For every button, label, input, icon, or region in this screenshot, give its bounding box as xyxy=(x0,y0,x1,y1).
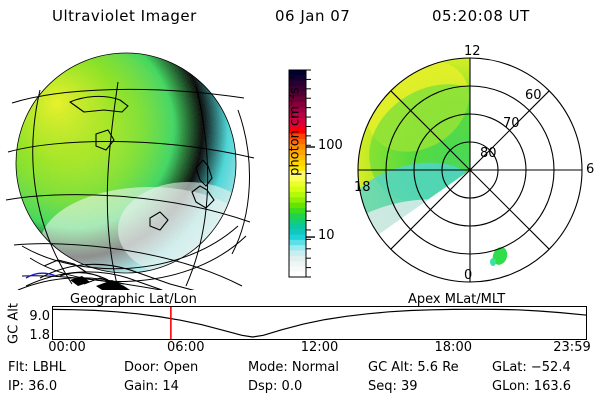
colorbar-segment xyxy=(289,219,306,225)
colorbar-segment xyxy=(289,245,306,251)
altitude-strip-plot: Geographic Lat/Lon Apex MLat/MLT GC Alt … xyxy=(0,292,600,348)
observation-date: 06 Jan 07 xyxy=(275,7,350,25)
colorbar-segment xyxy=(289,240,306,246)
strip-title-geographic: Geographic Lat/Lon xyxy=(70,292,197,307)
instrument-title: Ultraviolet Imager xyxy=(52,7,197,25)
header-bar: Ultraviolet Imager 06 Jan 07 05:20:08 UT xyxy=(0,4,600,32)
strip-title-apex: Apex MLat/MLT xyxy=(408,292,505,307)
colorbar-segment xyxy=(289,256,306,262)
status-row-2: IP: 36.0Gain: 14Dsp: 0.0Seq: 39GLon: 163… xyxy=(0,379,600,398)
mlt-label-undefined: 12 xyxy=(464,44,481,59)
time-tick-label: 12:00 xyxy=(299,340,341,355)
mlt-label-undefined: 0 xyxy=(464,268,472,283)
status-readout: Flt: LBHLDoor: OpenMode: NormalGC Alt: 5… xyxy=(0,360,600,400)
colorbar-axis-label: photon cm⁻²s⁻¹ xyxy=(288,46,303,206)
time-tick-label: 18:00 xyxy=(432,340,474,355)
status-field: Door: Open xyxy=(124,360,198,375)
status-field: Flt: LBHL xyxy=(8,360,66,375)
altitude-trace xyxy=(52,309,587,337)
colorbar-segment xyxy=(289,208,306,214)
polar-plot xyxy=(340,40,600,290)
colorbar-segment xyxy=(289,250,306,256)
status-field: Dsp: 0.0 xyxy=(248,379,302,394)
status-field: Gain: 14 xyxy=(124,379,179,394)
strip-y-axis-label: GC Alt xyxy=(7,296,22,352)
geographic-globe-panel xyxy=(0,40,272,290)
status-row-1: Flt: LBHLDoor: OpenMode: NormalGC Alt: 5… xyxy=(0,360,600,379)
colorbar-segment xyxy=(289,229,306,235)
y-tick-high: 9.0 xyxy=(29,309,50,324)
status-field: GC Alt: 5.6 Re xyxy=(368,360,459,375)
colorbar-tick-label: 10 xyxy=(318,228,335,243)
time-tick-label: 23:59 xyxy=(551,340,593,355)
altitude-curve-plot[interactable] xyxy=(52,306,587,340)
mlt-label-undefined: 6 xyxy=(586,162,594,177)
status-field: GLon: 163.6 xyxy=(492,379,571,394)
mlat-ring-label-70: 70 xyxy=(503,116,520,131)
time-tick-label: 06:00 xyxy=(165,340,207,355)
time-tick-label: 00:00 xyxy=(46,340,88,355)
colorbar-segment xyxy=(289,213,306,219)
mlt-label-undefined: 18 xyxy=(354,180,371,195)
apex-polar-panel: 126018607080 xyxy=(340,40,600,290)
colorbar-segment xyxy=(289,224,306,230)
globe-image xyxy=(0,40,272,290)
colorbar-segment xyxy=(289,261,306,267)
status-field: IP: 36.0 xyxy=(8,379,57,394)
strip-frame xyxy=(53,307,587,340)
status-field: Seq: 39 xyxy=(368,379,418,394)
colorbar-segment xyxy=(289,235,306,241)
mlat-ring-label-80: 80 xyxy=(480,146,497,161)
observation-time: 05:20:08 UT xyxy=(432,7,530,25)
colorbar-segment xyxy=(289,266,306,272)
mlat-ring-label-60: 60 xyxy=(525,88,542,103)
status-field: Mode: Normal xyxy=(248,360,339,375)
status-field: GLat: −52.4 xyxy=(492,360,571,375)
polar-grid xyxy=(358,58,582,282)
